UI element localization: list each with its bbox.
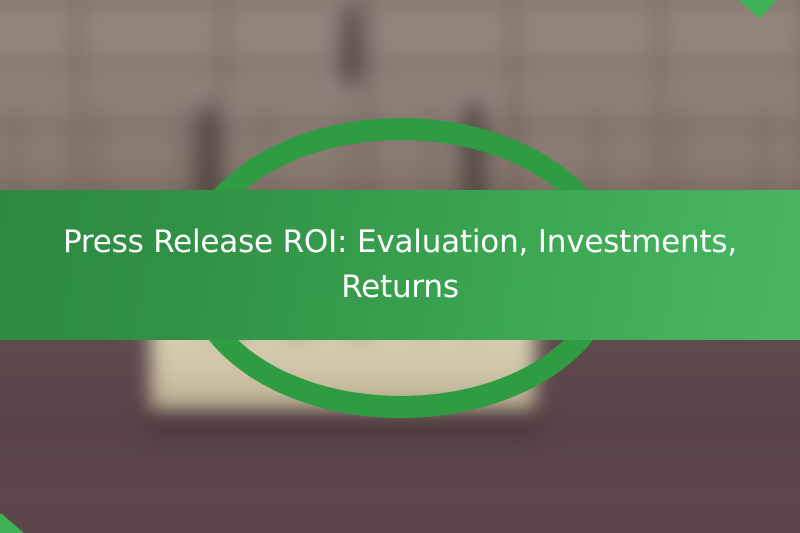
hero-banner-screenshot: Press Release ROI: Evaluation, Investmen… <box>0 0 800 533</box>
title-banner: Press Release ROI: Evaluation, Investmen… <box>0 190 800 340</box>
background-shadow-post <box>340 6 363 87</box>
page-title: Press Release ROI: Evaluation, Investmen… <box>0 220 800 310</box>
